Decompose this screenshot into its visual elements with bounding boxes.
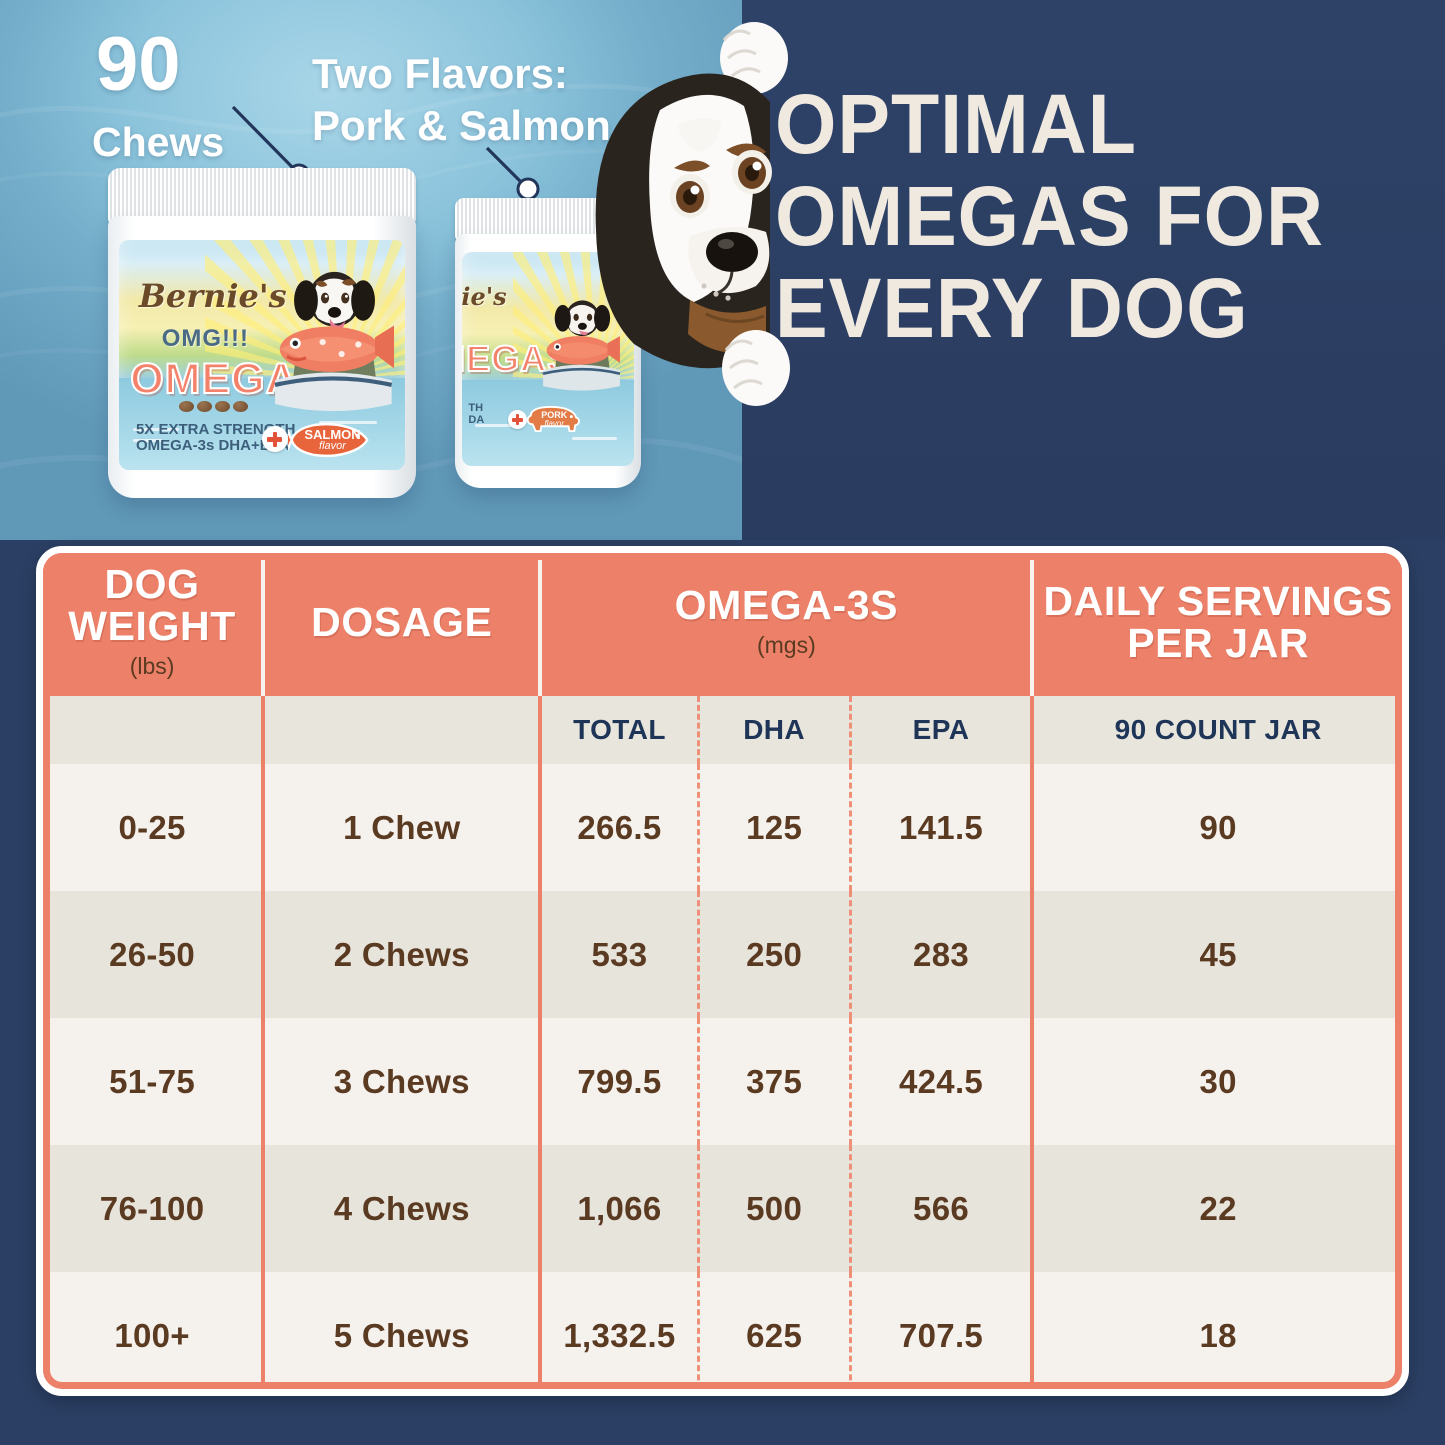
col-header-daily-servings-label: DAILY SERVINGS PER JAR [1038,580,1398,664]
col-header-omega3s: OMEGA-3S (mgs) [540,553,1032,696]
cell-total: 533 [540,891,698,1018]
col-header-daily-servings: DAILY SERVINGS PER JAR [1032,553,1402,696]
headline-line-3: EVERY DOG [775,262,1377,354]
cell-weight: 0-25 [43,764,263,891]
table-row: 76-100 4 Chews 1,066 500 566 22 [43,1145,1402,1272]
jar-body-salmon: Bernie's OMG!!! OMEGAS 5X EXTRA STRENGTH… [108,216,416,498]
col-header-omega3s-label: OMEGA-3S [546,584,1026,626]
cell-dosage: 2 Chews [263,891,540,1018]
col-header-dosage: DOSAGE [263,553,540,696]
ripple-line [572,437,617,440]
table-sub-header-row: TOTAL DHA EPA 90 COUNT JAR [43,696,1402,764]
cell-total: 266.5 [540,764,698,891]
cell-total: 1,332.5 [540,1272,698,1396]
sub-header-90-count-jar: 90 COUNT JAR [1032,696,1402,764]
cell-weight: 51-75 [43,1018,263,1145]
dosage-table: DOG WEIGHT (lbs) DOSAGE OMEGA-3S (mgs) D… [43,553,1402,1396]
jar-subbrand-salmon: OMG!!! [162,325,249,353]
jar-brand-pork: Bernie's [462,282,507,311]
sub-header-blank-2 [263,696,540,764]
cell-total: 799.5 [540,1018,698,1145]
cell-weight: 26-50 [43,891,263,1018]
sub-header-total: TOTAL [540,696,698,764]
cell-servings: 45 [1032,891,1402,1018]
cell-dosage: 1 Chew [263,764,540,891]
cell-dha: 375 [698,1018,850,1145]
col-header-dog-weight-label: DOG WEIGHT [47,563,257,647]
cell-epa: 707.5 [850,1272,1032,1396]
cell-dosage: 4 Chews [263,1145,540,1272]
cell-dha: 250 [698,891,850,1018]
cell-dha: 125 [698,764,850,891]
cell-weight: 76-100 [43,1145,263,1272]
jar-label-salmon: Bernie's OMG!!! OMEGAS 5X EXTRA STRENGTH… [119,240,405,470]
dog-head [596,74,772,369]
sub-header-dha: DHA [698,696,850,764]
dosage-chart: DOG WEIGHT (lbs) DOSAGE OMEGA-3S (mgs) D… [36,546,1409,1396]
flavor-sub-salmon: flavor [319,441,346,452]
page-title: OPTIMAL OMEGAS FOR EVERY DOG [775,78,1377,354]
sub-header-blank-1 [43,696,263,764]
headline-line-1: OPTIMAL [775,78,1377,170]
cell-dha: 500 [698,1145,850,1272]
cell-servings: 30 [1032,1018,1402,1145]
table-row: 100+ 5 Chews 1,332.5 625 707.5 18 [43,1272,1402,1396]
cell-servings: 90 [1032,764,1402,891]
cell-dha: 625 [698,1272,850,1396]
cell-epa: 283 [850,891,1032,1018]
chews-count-label: Chews [92,120,224,164]
table-row: 0-25 1 Chew 266.5 125 141.5 90 [43,764,1402,891]
sub-header-epa: EPA [850,696,1032,764]
jar-strength-pork-l1: TH [468,402,484,414]
dog-with-fish-illustration-salmon [256,249,405,438]
cell-dosage: 3 Chews [263,1018,540,1145]
cell-dosage: 5 Chews [263,1272,540,1396]
cell-weight: 100+ [43,1272,263,1396]
chews-count-value: 90 [96,28,181,102]
headline-line-2: OMEGAS FOR [775,170,1377,262]
chew-pieces-icon [179,401,248,412]
hero-section: OPTIMAL OMEGAS FOR EVERY DOG 90 Chews Tw… [0,0,1445,540]
product-jar-salmon: Bernie's OMG!!! OMEGAS 5X EXTRA STRENGTH… [108,168,416,498]
jar-strength-pork-l2: DA [468,414,484,426]
dog-paw-lower [722,330,790,406]
jar-strength-pork: TH DA [468,402,484,427]
cell-epa: 141.5 [850,764,1032,891]
col-header-dog-weight-unit: (lbs) [47,653,257,680]
cell-servings: 18 [1032,1272,1402,1396]
col-header-omega3s-unit: (mgs) [546,632,1026,659]
col-header-dosage-label: DOSAGE [269,601,534,643]
cell-epa: 424.5 [850,1018,1032,1145]
cell-servings: 22 [1032,1145,1402,1272]
table-group-header-row: DOG WEIGHT (lbs) DOSAGE OMEGA-3S (mgs) D… [43,553,1402,696]
peeking-dog-illustration [556,0,816,420]
table-row: 51-75 3 Chews 799.5 375 424.5 30 [43,1018,1402,1145]
cell-epa: 566 [850,1145,1032,1272]
col-header-dog-weight: DOG WEIGHT (lbs) [43,553,263,696]
table-row: 26-50 2 Chews 533 250 283 45 [43,891,1402,1018]
cell-total: 1,066 [540,1145,698,1272]
